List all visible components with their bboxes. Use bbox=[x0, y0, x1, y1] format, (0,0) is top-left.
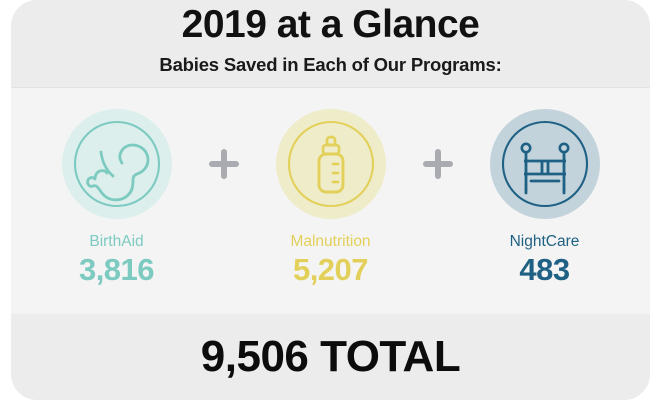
crib-icon bbox=[490, 109, 600, 219]
program-nightcare: NightCare 483 bbox=[466, 89, 624, 287]
card-footer: 9,506 TOTAL bbox=[11, 314, 650, 400]
program-birthaid: BirthAid 3,816 bbox=[38, 89, 196, 287]
nightcare-icon-disc bbox=[490, 109, 600, 219]
nightcare-value: 483 bbox=[519, 252, 569, 287]
malnutrition-label: Malnutrition bbox=[290, 232, 370, 251]
malnutrition-icon-disc bbox=[276, 109, 386, 219]
plus-icon bbox=[420, 146, 456, 182]
page-subtitle: Babies Saved in Each of Our Programs: bbox=[11, 52, 650, 78]
birthaid-icon-disc bbox=[62, 109, 172, 219]
birthaid-value: 3,816 bbox=[79, 252, 154, 287]
total-value: 9,506 TOTAL bbox=[11, 331, 650, 383]
malnutrition-value: 5,207 bbox=[293, 252, 368, 287]
birthaid-label: BirthAid bbox=[89, 232, 143, 251]
plus-operator-1 bbox=[196, 146, 252, 182]
infographic-card: 2019 at a Glance Babies Saved in Each of… bbox=[11, 0, 650, 400]
baby-bottle-icon bbox=[276, 109, 386, 219]
plus-operator-2 bbox=[410, 146, 466, 182]
nightcare-label: NightCare bbox=[510, 232, 580, 251]
page-title: 2019 at a Glance bbox=[11, 1, 650, 49]
plus-icon bbox=[206, 146, 242, 182]
card-header: 2019 at a Glance Babies Saved in Each of… bbox=[11, 0, 650, 88]
fetus-icon bbox=[62, 109, 172, 219]
programs-row: BirthAid 3,816 bbox=[11, 89, 650, 314]
program-malnutrition: Malnutrition 5,207 bbox=[252, 89, 410, 287]
programs-section: BirthAid 3,816 bbox=[11, 89, 650, 314]
